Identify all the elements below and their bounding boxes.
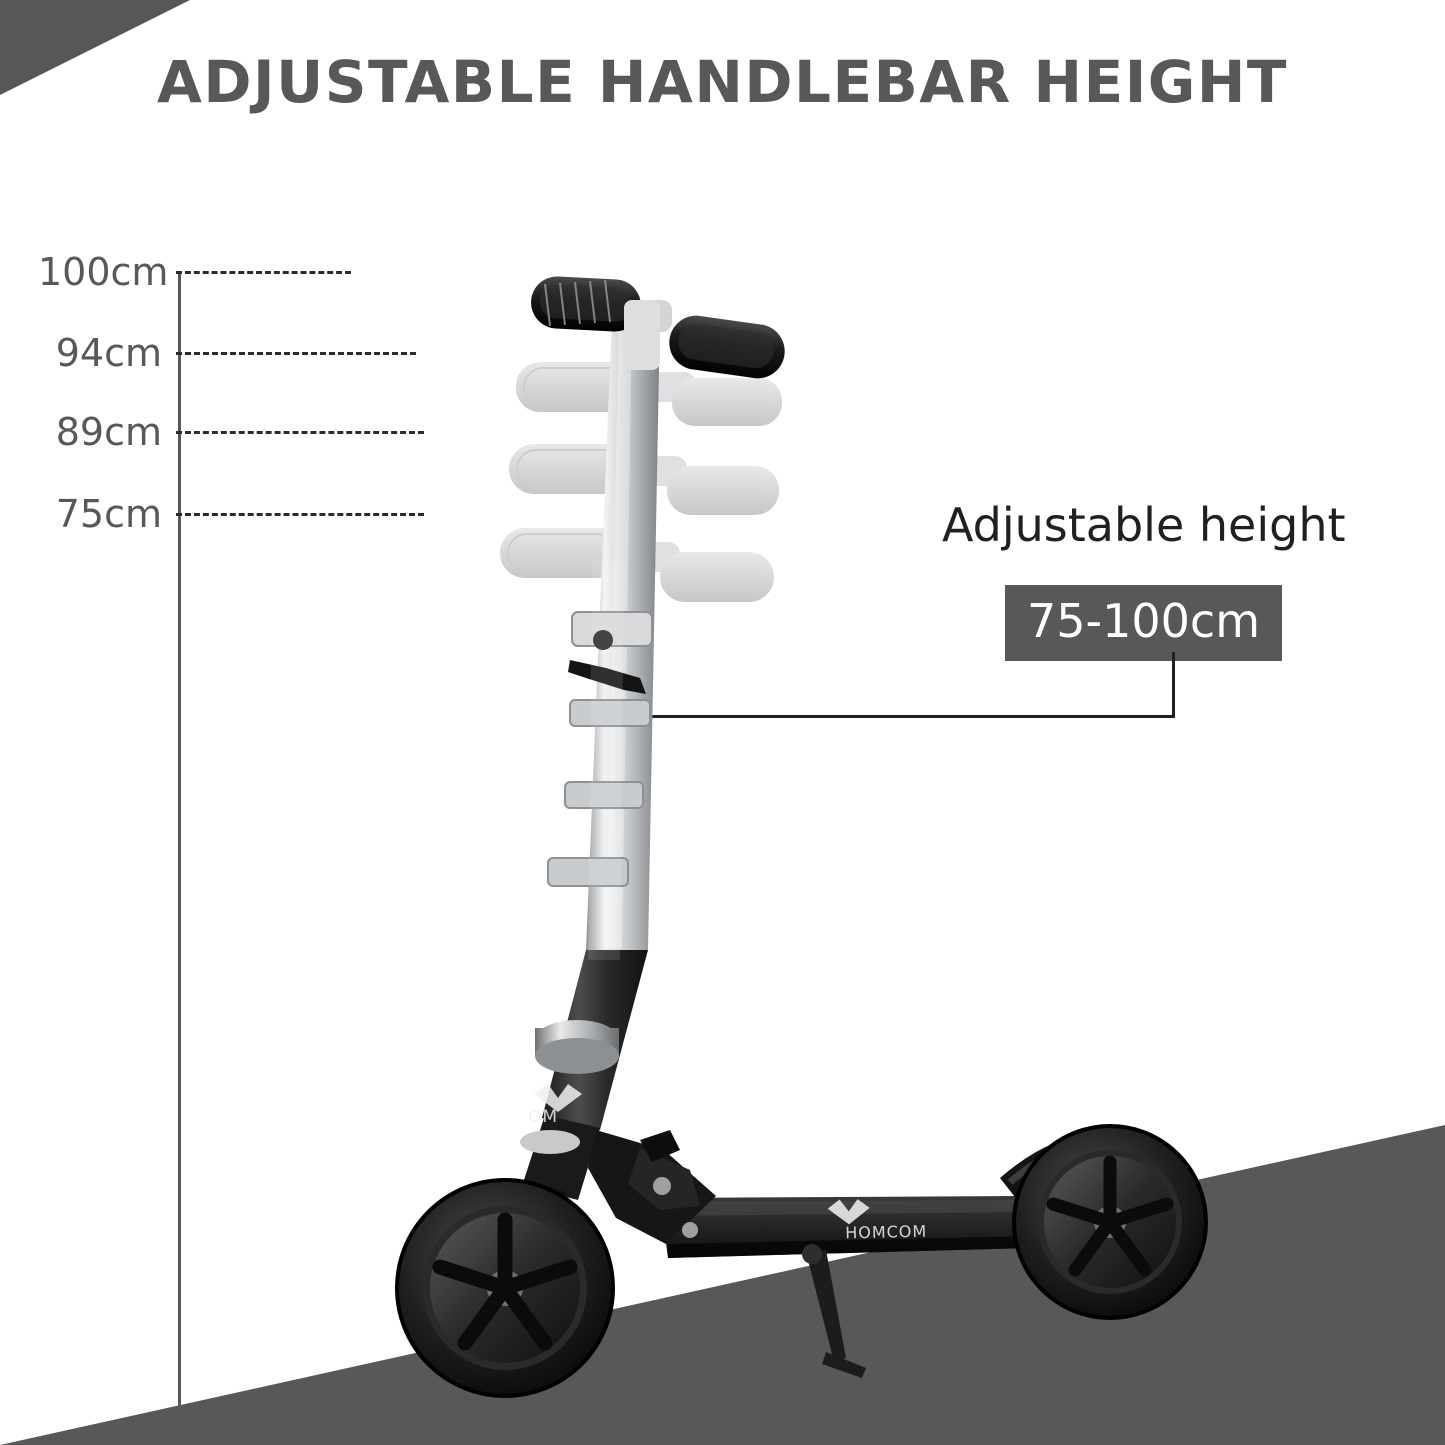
scale-tick-dash [176,513,424,516]
scale-tick-dash [176,431,424,434]
scooter-illustration: OM HOMCOM [0,0,1445,1445]
page-title: ADJUSTABLE HANDLEBAR HEIGHT [0,48,1445,116]
rear-wheel [1014,1126,1206,1318]
brand-mark-stem: OM [528,1084,582,1127]
front-fork [504,1180,566,1248]
head-tube [522,1115,600,1200]
folding-hinge [588,1130,716,1244]
handlebar-active [530,275,788,382]
callout-title: Adjustable height [942,498,1346,552]
scale-tick-label: 89cm [38,412,162,452]
callout-leader-vertical [1172,652,1175,718]
front-wheel [397,1180,613,1396]
ghost-handlebar-75cm [500,528,774,602]
product-infographic: ADJUSTABLE HANDLEBAR HEIGHT 100cm 94cm 8… [0,0,1445,1445]
ghost-handlebar-89cm [509,444,779,515]
brand-mark-deck: HOMCOM [828,1198,928,1243]
stem-lower [542,950,648,1130]
telescoping-pole [586,316,660,950]
scale-tick-dash [176,271,351,274]
ghost-handlebar-94cm [516,362,782,426]
scale-tick-label: 94cm [38,333,162,373]
scale-tick: 89cm [38,412,424,452]
folding-collar [535,1020,619,1074]
scale-tick-label: 100cm [38,252,162,292]
scale-tick-label: 75cm [38,494,162,534]
floor-wedge [0,885,1445,1445]
svg-text:OM: OM [528,1107,558,1127]
scale-tick: 100cm [38,252,351,292]
rear-fender [1000,1134,1178,1206]
callout-badge: 75-100cm [1005,585,1282,661]
scale-tick-dash [176,352,416,355]
kickstand [802,1244,866,1378]
deck [660,1196,1030,1258]
svg-text:HOMCOM: HOMCOM [845,1222,927,1243]
pole-clamps [548,612,652,886]
quick-release-lever [568,630,646,694]
callout-leader-horizontal [636,715,1175,718]
scale-tick: 75cm [38,494,424,534]
scale-tick: 94cm [38,333,416,373]
